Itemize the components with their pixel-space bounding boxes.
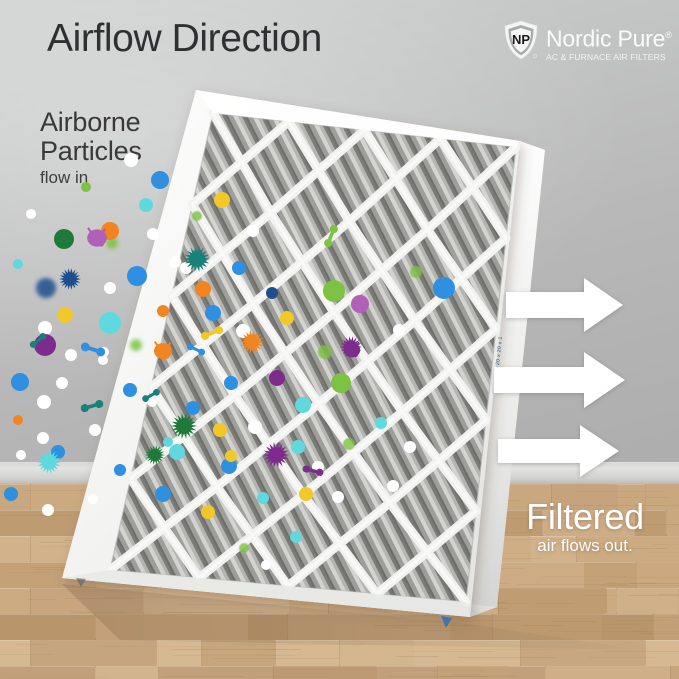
particle-dot [16,450,26,460]
particle-dot [248,420,262,434]
particle-dot [269,370,285,386]
particle-dot [232,261,246,275]
particle-virus-spiky [171,413,197,439]
particle-dot [124,153,138,167]
particle-dot [65,349,77,361]
particle-microbe-amoeba [152,340,174,362]
particle-dot [295,397,311,413]
particle-dot [205,305,221,321]
particle-virus-spiky [184,246,210,272]
airflow-arrow-2 [494,352,626,408]
particle-dot [387,480,399,492]
particle-dot [56,377,68,389]
particle-dot [331,373,351,393]
particle-rod-bacteria [323,223,340,248]
particle-dot [404,441,416,453]
particle-dot [410,266,422,278]
particle-dot [99,312,121,334]
scene-root: Airflow Direction Airborne Particles flo… [0,0,679,679]
particle-dot [157,305,169,317]
particle-dot [433,277,455,299]
particle-dot [332,491,344,503]
particle-microbe-amoeba [342,340,362,360]
particle-dot [114,464,126,476]
particle-dot [266,287,278,299]
particle-dot [13,259,23,269]
particle-rod-bacteria [186,342,207,357]
particle-dot [351,295,369,313]
airflow-arrow-1 [506,278,624,332]
particle-dot [290,531,302,543]
particle-microbe-amoeba [85,226,109,250]
particle-dot [89,424,101,436]
particle-dot [130,339,142,351]
particle-dot [224,376,238,390]
particle-dot [299,487,313,501]
particle-dot [42,504,54,516]
particle-dot [261,560,271,570]
particle-dot [54,229,74,249]
airborne-particle-cloud [0,0,679,679]
particle-dot [147,228,159,240]
filtered-caption: Filtered air flows out. [505,498,665,556]
particle-dot [201,505,215,519]
filtered-headline: Filtered [505,498,665,536]
particle-dot [151,171,169,189]
particle-dot [323,280,345,302]
particle-dot [247,225,259,237]
particle-dot [343,438,355,450]
particle-dot [37,395,51,409]
particle-virus-spiky [37,450,61,474]
particle-dot [139,198,153,212]
particle-dot [393,324,405,336]
particle-virus-spiky [145,445,165,465]
particle-rod-bacteria [79,341,106,357]
particle-dot [375,417,387,429]
particle-dot [280,311,294,325]
particle-virus-spiky [59,268,81,290]
particle-virus-spiky [240,330,264,354]
particle-dot [291,440,305,454]
particle-dot [192,211,202,221]
particle-dot [257,492,269,504]
particle-dot [37,432,49,444]
particle-rod-bacteria [79,399,104,413]
particle-dot [36,278,56,298]
particle-dot [155,486,171,502]
particle-dot [123,383,137,397]
particle-dot [26,209,36,219]
particle-virus-spiky [263,442,289,468]
particle-dot [214,192,230,208]
particle-rod-bacteria [199,325,224,342]
particle-dot [88,494,98,504]
particle-dot [13,415,23,425]
particle-dot [81,182,91,192]
particle-dot [195,281,211,297]
particle-dot [104,282,116,294]
particle-dot [225,450,237,462]
particle-dot [4,487,18,501]
filtered-subline: air flows out. [505,536,665,556]
particle-dot [169,444,185,460]
particle-dot [239,543,249,553]
particle-dot [127,266,147,286]
particle-dot [318,345,332,359]
particle-dot [213,423,227,437]
particle-dot [57,307,73,323]
airflow-arrow-3 [498,425,620,477]
particle-dot [11,373,29,391]
